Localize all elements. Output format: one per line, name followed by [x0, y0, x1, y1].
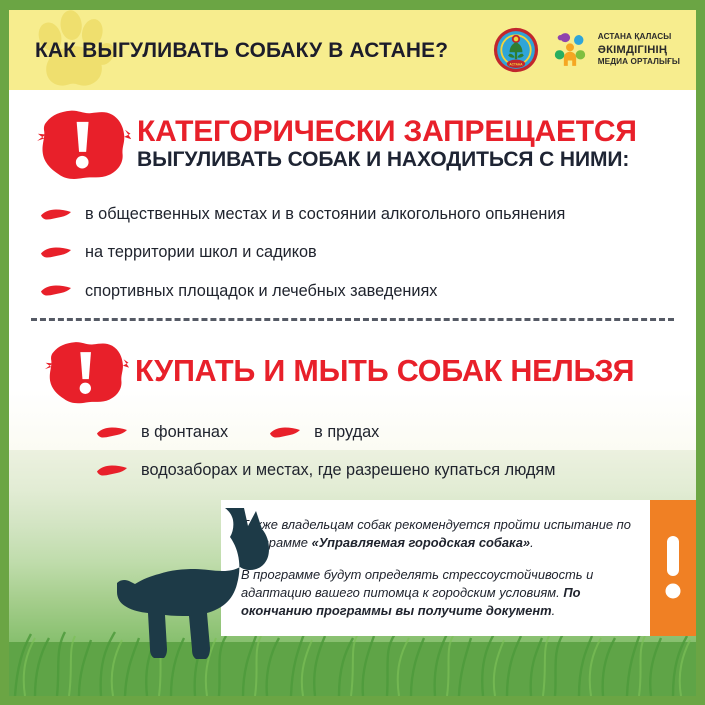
section1-headings: КАТЕГОРИЧЕСКИ ЗАПРЕЩАЕТСЯ ВЫГУЛИВАТЬ СОБ… — [137, 116, 637, 173]
note-paragraph-1: Также владельцам собак рекомендуется про… — [241, 516, 632, 553]
svg-text:АСТАНА: АСТАНА — [509, 62, 523, 66]
note-exclamation-panel — [650, 500, 696, 636]
note-p1-bold: «Управляемая городская собака» — [312, 535, 531, 550]
infographic-poster: КАК ВЫГУЛИВАТЬ СОБАКУ В АСТАНЕ? АСТАНА — [0, 0, 705, 705]
red-dash-bullet-icon — [39, 245, 73, 260]
list-item-label: в прудах — [314, 422, 379, 442]
astana-city-emblem-icon: АСТАНА — [493, 27, 539, 73]
media-logo-line3: МЕДИА ОРТАЛЫҒЫ — [598, 57, 680, 68]
section-no-washing: КУПАТЬ И МЫТЬ СОБАК НЕЛЬЗЯ в фонтанах — [9, 338, 696, 497]
poster-header: КАК ВЫГУЛИВАТЬ СОБАКУ В АСТАНЕ? АСТАНА — [9, 10, 696, 90]
page-title: КАК ВЫГУЛИВАТЬ СОБАКУ В АСТАНЕ? — [35, 38, 448, 63]
media-logo-line2: ӘКІМДІГІНІҢ — [598, 43, 680, 57]
poster-canvas: КАК ВЫГУЛИВАТЬ СОБАКУ В АСТАНЕ? АСТАНА — [9, 10, 696, 696]
exclamation-stamp-icon — [35, 106, 131, 182]
list-item-label: спортивных площадок и лечебных заведения… — [85, 281, 437, 301]
section2-heading-row: КУПАТЬ И МЫТЬ СОБАК НЕЛЬЗЯ — [9, 338, 696, 406]
section-divider — [31, 318, 674, 321]
note-paragraph-2: В программе будут определять стрессоусто… — [241, 566, 632, 621]
media-center-pinwheel-icon — [548, 28, 592, 72]
list-item-label: в общественных местах и в состоянии алко… — [85, 204, 565, 224]
dog-silhouette-icon — [114, 498, 290, 680]
note-p2-text: В программе будут определять стрессоусто… — [241, 567, 593, 600]
section2-inline-row: в фонтанах в прудах — [95, 422, 696, 442]
section1-heading-red: КАТЕГОРИЧЕСКИ ЗАПРЕЩАЕТСЯ — [137, 116, 637, 147]
media-center-text: АСТАНА ҚАЛАСЫ ӘКІМДІГІНІҢ МЕДИА ОРТАЛЫҒЫ — [598, 32, 680, 67]
note-p2-end: . — [552, 603, 556, 618]
poster-content: КАТЕГОРИЧЕСКИ ЗАПРЕЩАЕТСЯ ВЫГУЛИВАТЬ СОБ… — [9, 90, 696, 696]
section1-heading-row: КАТЕГОРИЧЕСКИ ЗАПРЕЩАЕТСЯ ВЫГУЛИВАТЬ СОБ… — [9, 106, 696, 182]
list-item-label: в фонтанах — [141, 422, 228, 442]
red-dash-bullet-icon — [95, 463, 129, 478]
section1-heading-dark: ВЫГУЛИВАТЬ СОБАК И НАХОДИТЬСЯ С НИМИ: — [137, 148, 637, 172]
media-logo-line1: АСТАНА ҚАЛАСЫ — [598, 32, 680, 43]
list-item-label: на территории школ и садиков — [85, 242, 317, 262]
program-note-panel: Также владельцам собак рекомендуется про… — [221, 500, 696, 636]
list-item: водозаборах и местах, где разрешено купа… — [95, 460, 696, 480]
list-item: в фонтанах — [95, 422, 228, 442]
section2-heading-red: КУПАТЬ И МЫТЬ СОБАК НЕЛЬЗЯ — [135, 356, 634, 388]
section2-bullet-list: в фонтанах в прудах — [9, 422, 696, 481]
note-p1-end: . — [530, 535, 534, 550]
exclamation-mark-icon — [663, 536, 683, 600]
list-item: в общественных местах и в состоянии алко… — [39, 204, 696, 224]
list-item: спортивных площадок и лечебных заведения… — [39, 281, 696, 301]
list-item: в прудах — [268, 422, 379, 442]
section-prohibited-walking: КАТЕГОРИЧЕСКИ ЗАПРЕЩАЕТСЯ ВЫГУЛИВАТЬ СОБ… — [9, 106, 696, 319]
exclamation-stamp-icon — [43, 338, 129, 406]
red-dash-bullet-icon — [268, 425, 302, 440]
red-dash-bullet-icon — [39, 207, 73, 222]
section2-headings: КУПАТЬ И МЫТЬ СОБАК НЕЛЬЗЯ — [135, 356, 634, 388]
header-logos: АСТАНА — [493, 27, 680, 73]
red-dash-bullet-icon — [95, 425, 129, 440]
list-item: на территории школ и садиков — [39, 242, 696, 262]
red-dash-bullet-icon — [39, 283, 73, 298]
section1-bullet-list: в общественных местах и в состоянии алко… — [9, 204, 696, 301]
media-center-logo: АСТАНА ҚАЛАСЫ ӘКІМДІГІНІҢ МЕДИА ОРТАЛЫҒЫ — [548, 28, 680, 72]
list-item-label: водозаборах и местах, где разрешено купа… — [141, 460, 555, 480]
poster-body: КАТЕГОРИЧЕСКИ ЗАПРЕЩАЕТСЯ ВЫГУЛИВАТЬ СОБ… — [9, 90, 696, 696]
